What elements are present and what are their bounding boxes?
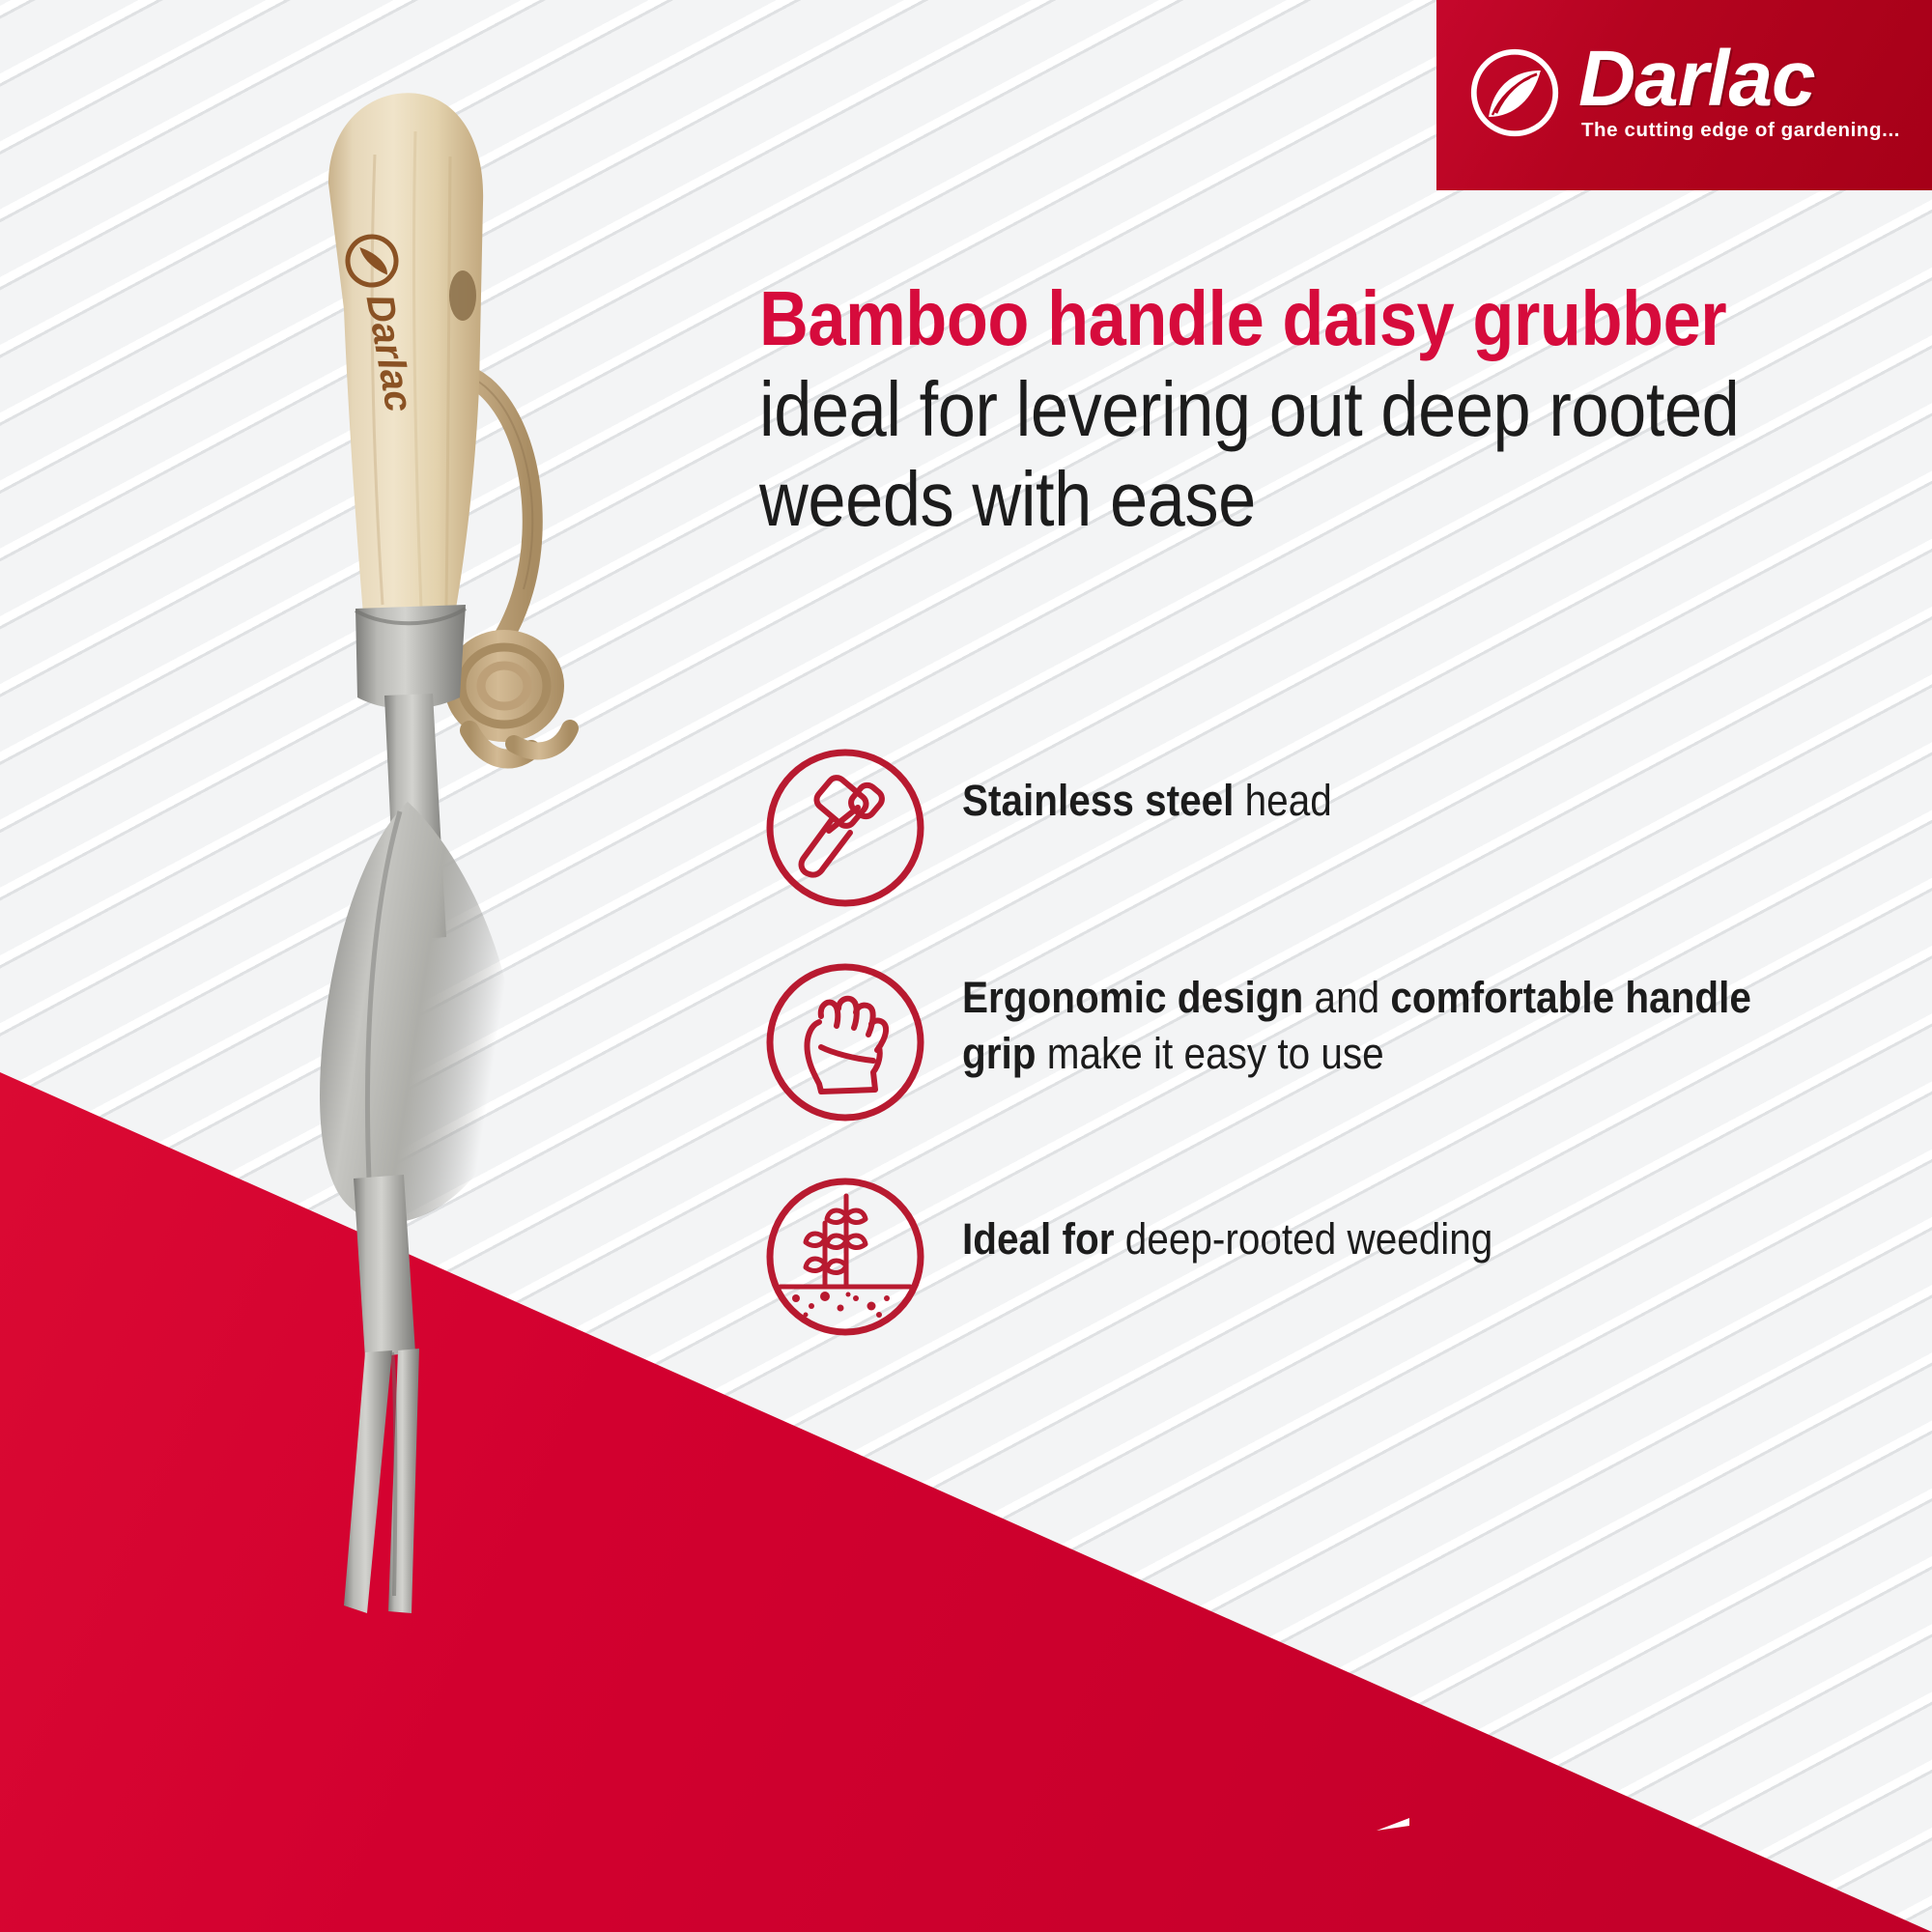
feature-regular-1: head (1234, 776, 1331, 825)
feature-text-ergonomic-design: Ergonomic design and comfortable handle … (962, 964, 1816, 1081)
feature-regular-3: deep-rooted weeding (1115, 1214, 1493, 1264)
feature-item-deep-rooted-weeding: Ideal for deep-rooted weeding (761, 1173, 1911, 1341)
headline-rest: ideal for levering out deep rooted weeds… (759, 366, 1739, 543)
rope-knot (444, 630, 570, 759)
infographic-canvas: Darlac (0, 0, 1932, 1932)
two-prong-fork (344, 1175, 419, 1613)
page-title: Bamboo handle daisy grubber ideal for le… (759, 273, 1767, 545)
leaf-circle-icon (1468, 46, 1561, 139)
bamboo-handle: Darlac (328, 93, 483, 614)
feature-bold-3: Ideal for (962, 1214, 1115, 1264)
fist-grip-icon (761, 958, 929, 1126)
brand-name: Darlac (1578, 43, 1815, 115)
weeds-in-soil-icon (761, 1173, 929, 1341)
feature-text-deep-rooted-weeding: Ideal for deep-rooted weeding (962, 1206, 1816, 1267)
product-image-daisy-grubber: Darlac (126, 68, 705, 1806)
feature-list: Stainless steel head Erg (761, 744, 1911, 1387)
feature-regular-2: make it easy to use (1037, 1029, 1384, 1078)
steel-ferrule (355, 605, 466, 709)
hammer-icon (761, 744, 929, 912)
headline-highlight: Bamboo handle daisy grubber (759, 275, 1726, 361)
steel-blade (320, 802, 514, 1223)
feature-mid-2: and (1303, 973, 1390, 1022)
feature-item-stainless-steel: Stainless steel head (761, 744, 1911, 912)
feature-bold-2a: Ergonomic design (962, 973, 1303, 1022)
feature-item-ergonomic-design: Ergonomic design and comfortable handle … (761, 958, 1911, 1126)
feature-text-stainless-steel: Stainless steel head (962, 767, 1816, 829)
brand-tagline: The cutting edge of gardening... (1581, 119, 1900, 142)
brand-logo: Darlac The cutting edge of gardening... (1436, 0, 1932, 190)
feature-bold-1: Stainless steel (962, 776, 1234, 825)
